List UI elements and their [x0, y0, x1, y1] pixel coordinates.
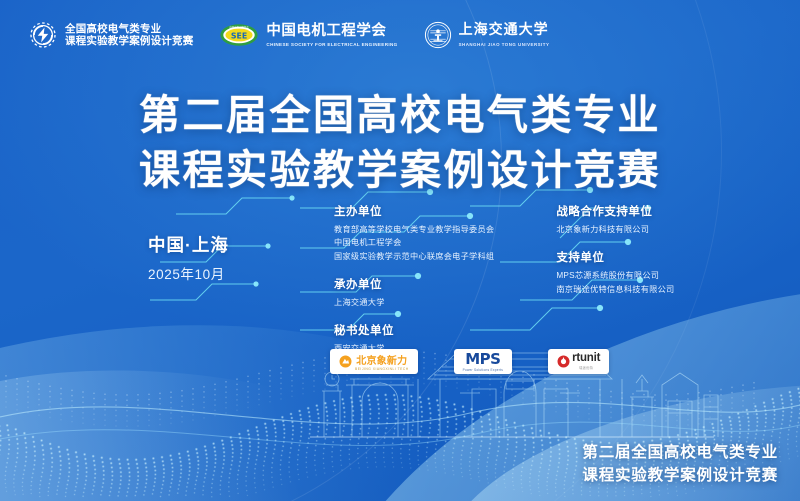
group-heading: 秘书处单位 [334, 322, 494, 338]
sjtu-logo: 上海交通大学 SHANGHAI JIAO TONG UNIVERSITY [424, 21, 550, 49]
svg-text:SEE: SEE [231, 32, 247, 41]
group-item: 上海交通大学 [334, 296, 494, 309]
sponsor-logo-bar: 全国高校电气类专业 课程实验教学案例设计竞赛 SEE 中国电机工程学会 中国电机… [28, 20, 549, 50]
title-line-2: 课程实验教学案例设计竞赛 [0, 143, 800, 198]
bottom-banner-title: 第二届全国高校电气类专业 课程实验教学案例设计竞赛 [582, 442, 778, 487]
sponsor-chip-xiangxinli: 北京象新力 BEIJING XIANGXINLI TECH [330, 349, 418, 374]
emblem-line1: 全国高校电气类专业 [65, 23, 193, 35]
sponsor-subtitle: 瑞途优特 [579, 365, 593, 370]
poster-title: 第二届全国高校电气类专业 课程实验教学案例设计竞赛 [0, 88, 800, 197]
xiangxinli-mark-icon [339, 355, 352, 368]
group-item: 南京瑞途优特信息科技有限公司 [556, 283, 674, 296]
sponsor-name: 北京象新力 [356, 352, 407, 367]
group-item: 教育部高等学校电气类专业教学指导委员会 [334, 223, 494, 236]
csee-name-en: CHINESE SOCIETY FOR ELECTRICAL ENGINEERI… [266, 42, 397, 47]
organizer-group-strategic: 战略合作支持单位 北京象新力科技有限公司 [556, 203, 674, 236]
sponsor-chip-mps: MPS Power Solutions Experts [454, 349, 512, 374]
conference-poster: 全国高校电气类专业 课程实验教学案例设计竞赛 SEE 中国电机工程学会 中国电机… [0, 0, 800, 501]
group-item: MPS芯源系统股份有限公司 [556, 269, 674, 282]
sponsor-chip-row: 北京象新力 BEIJING XIANGXINLI TECH MPS Power … [330, 349, 609, 374]
sponsor-name: MPS [465, 352, 500, 367]
rtunit-mark-icon [557, 355, 570, 368]
competition-emblem-logo: 全国高校电气类专业 课程实验教学案例设计竞赛 [28, 20, 193, 50]
group-item: 北京象新力科技有限公司 [556, 223, 674, 236]
group-item: 国家级实验教学示范中心联席会电子学科组 [334, 250, 494, 263]
csee-oval-icon: SEE 中国电机工程学会 [219, 22, 259, 48]
group-heading: 承办单位 [334, 276, 494, 292]
swoosh-lower-left [0, 353, 447, 501]
group-heading: 主办单位 [334, 203, 494, 219]
emblem-line2: 课程实验教学案例设计竞赛 [65, 35, 193, 47]
sjtu-name-cn: 上海交通大学 [459, 23, 550, 40]
svg-text:中国电机工程学会: 中国电机工程学会 [230, 25, 250, 29]
group-heading: 战略合作支持单位 [556, 203, 674, 219]
title-line-1: 第二届全国高校电气类专业 [0, 88, 800, 143]
csee-name-cn: 中国电机工程学会 [266, 23, 397, 40]
organizer-column-left: 主办单位 教育部高等学校电气类专业教学指导委员会 中国电机工程学会 国家级实验教… [334, 203, 494, 368]
bottom-banner-line-1: 第二届全国高校电气类专业 [582, 442, 778, 464]
group-heading: 支持单位 [556, 249, 674, 265]
event-location-date: 中国·上海 2025年10月 [148, 232, 229, 283]
organizer-group-support: 支持单位 MPS芯源系统股份有限公司 南京瑞途优特信息科技有限公司 [556, 249, 674, 296]
sponsor-chip-rtunit: rtunit 瑞途优特 [548, 349, 609, 374]
csee-logo: SEE 中国电机工程学会 中国电机工程学会 CHINESE SOCIETY FO… [219, 22, 397, 48]
organizer-group-undertaker: 承办单位 上海交通大学 [334, 276, 494, 309]
sjtu-name-en: SHANGHAI JIAO TONG UNIVERSITY [459, 42, 550, 47]
organizer-group-host: 主办单位 教育部高等学校电气类专业教学指导委员会 中国电机工程学会 国家级实验教… [334, 203, 494, 263]
bottom-banner-line-2: 课程实验教学案例设计竞赛 [582, 465, 778, 487]
event-date: 2025年10月 [148, 263, 229, 283]
sjtu-seal-icon [424, 21, 452, 49]
event-city: 中国·上海 [148, 232, 229, 257]
sponsor-name: rtunit [572, 353, 600, 365]
gear-lightning-icon [28, 20, 58, 50]
organizer-column-right: 战略合作支持单位 北京象新力科技有限公司 支持单位 MPS芯源系统股份有限公司 … [556, 203, 674, 368]
sponsor-subtitle: BEIJING XIANGXINLI TECH [355, 367, 409, 371]
sponsor-subtitle: Power Solutions Experts [463, 368, 503, 372]
group-item: 中国电机工程学会 [334, 236, 494, 249]
organizer-section: 主办单位 教育部高等学校电气类专业教学指导委员会 中国电机工程学会 国家级实验教… [334, 203, 774, 368]
